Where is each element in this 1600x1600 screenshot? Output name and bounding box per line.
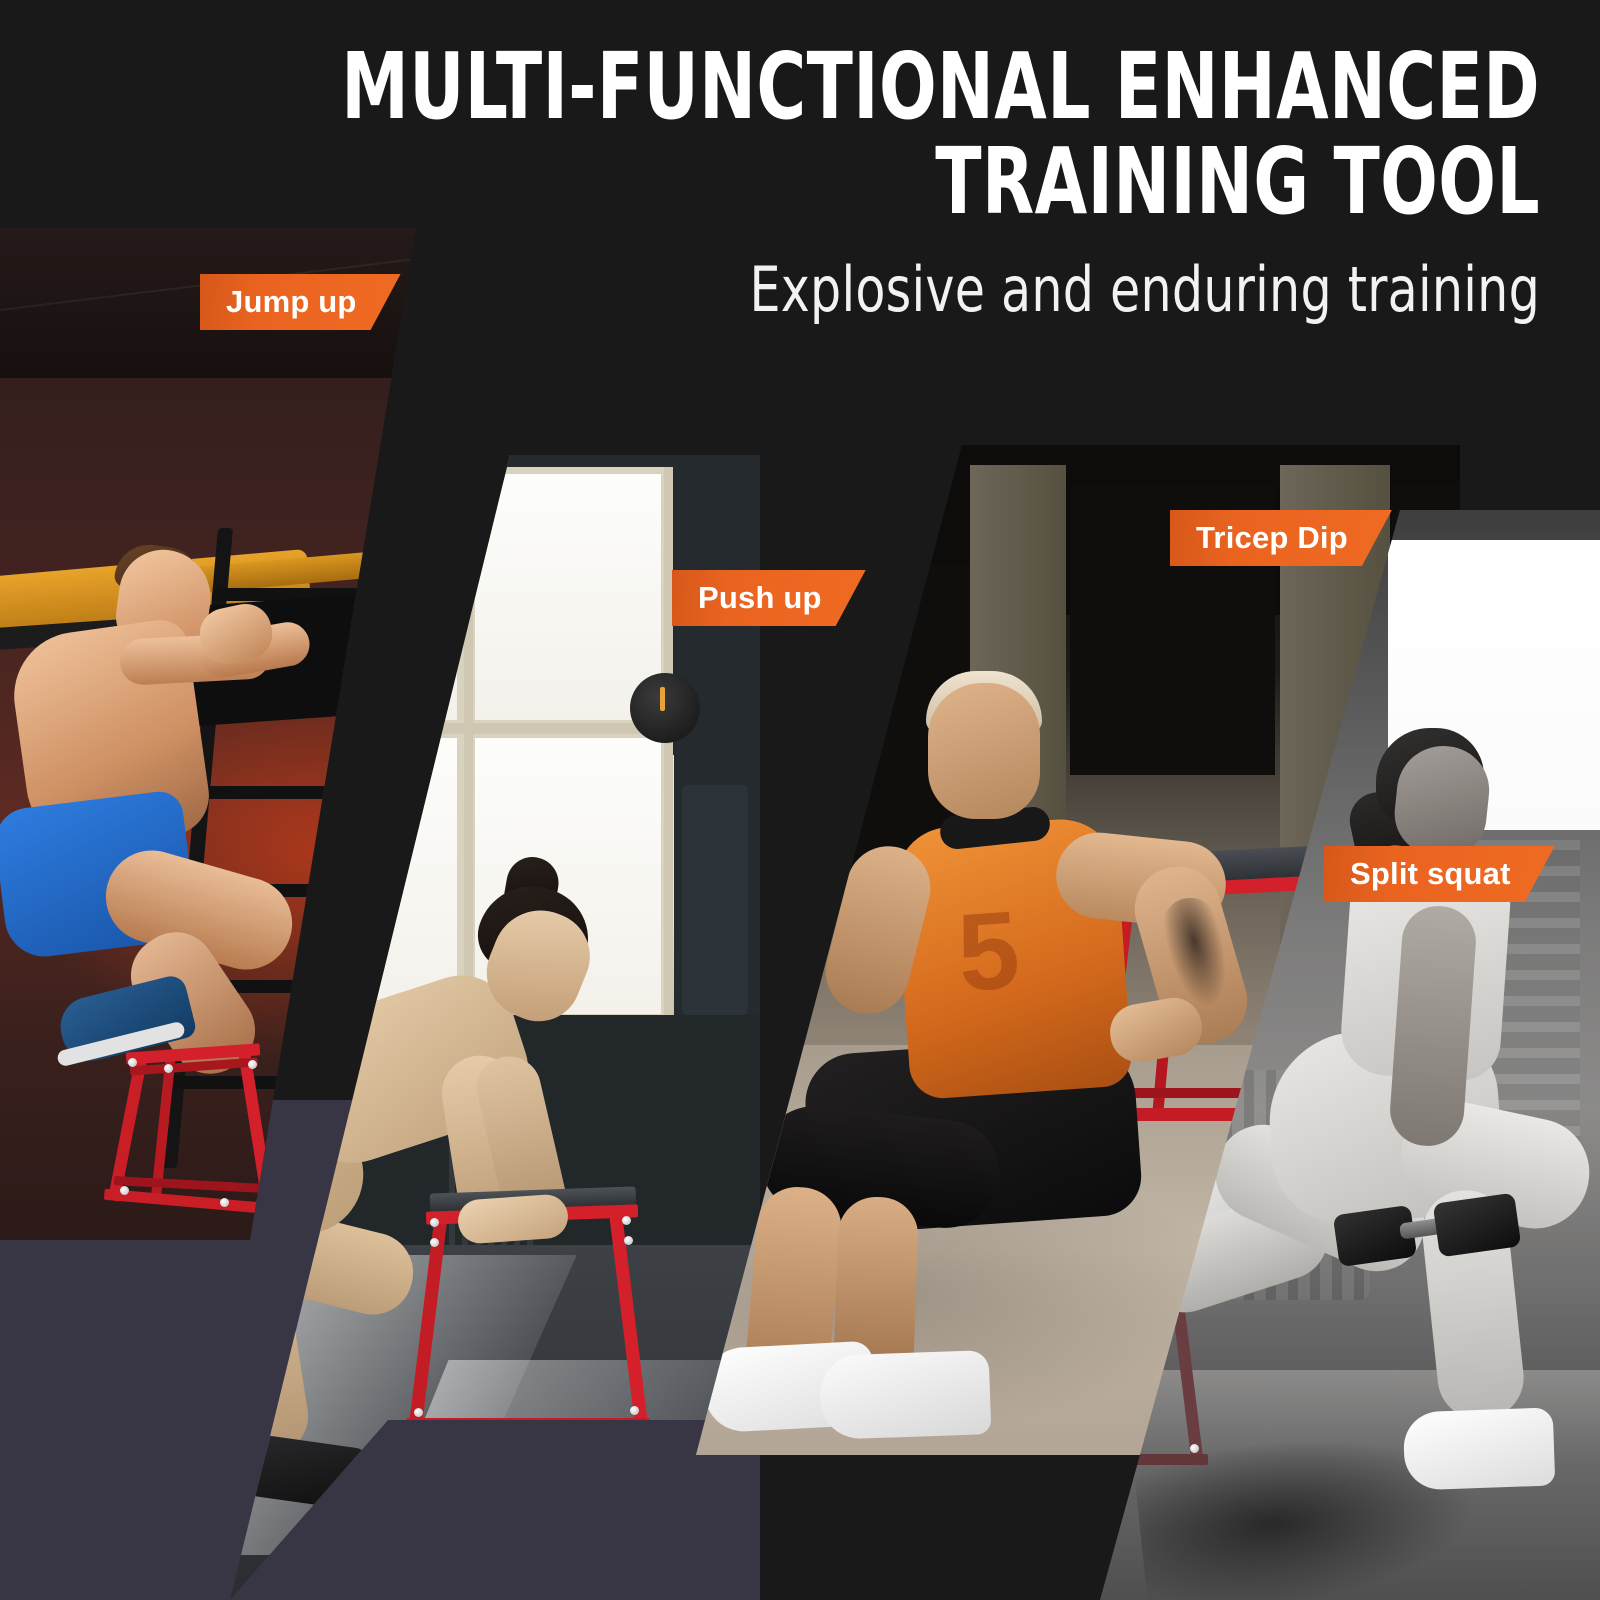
badge-tricep-dip: Tricep Dip: [1170, 510, 1392, 566]
jersey-number: 5: [954, 895, 1023, 1009]
product-plyo-box: [100, 1028, 280, 1228]
badge-push-up: Push up: [672, 570, 866, 626]
title-line-2: TRAINING TOOL: [277, 135, 1540, 230]
badge-split-squat: Split squat: [1324, 846, 1555, 902]
product-poster: 5: [0, 0, 1600, 1600]
badge-jump-up: Jump up: [200, 274, 401, 330]
title-line-1: MULTI-FUNCTIONAL ENHANCED: [277, 40, 1540, 135]
